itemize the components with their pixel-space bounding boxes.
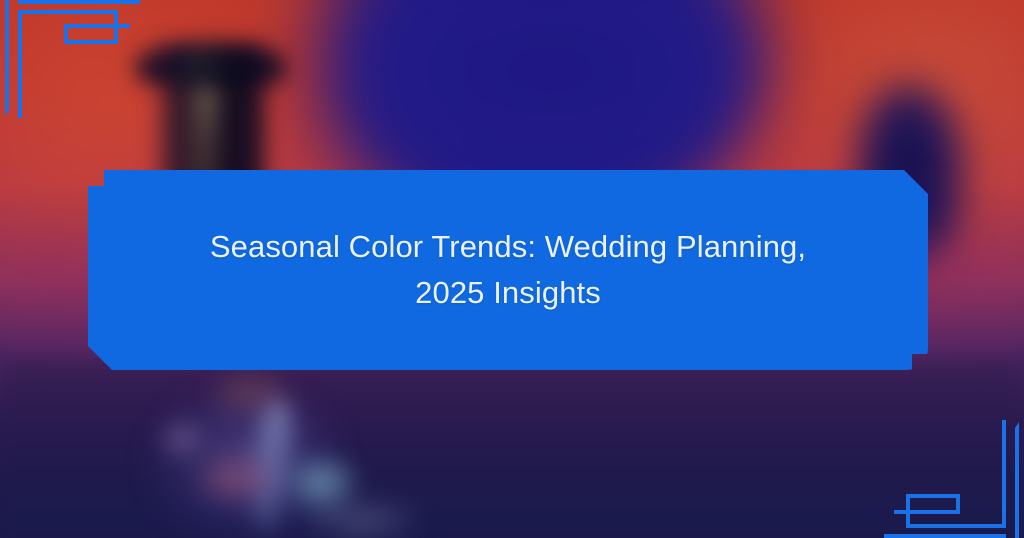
hero-banner-stage: Seasonal Color Trends: Wedding Planning,… bbox=[0, 0, 1024, 538]
corner-bracket-top-left-icon bbox=[0, 0, 140, 140]
background-bokeh-white bbox=[300, 500, 420, 538]
title-banner: Seasonal Color Trends: Wedding Planning,… bbox=[88, 170, 928, 370]
background-bokeh-pink bbox=[196, 452, 276, 504]
background-bokeh-lilac bbox=[158, 418, 206, 460]
page-title: Seasonal Color Trends: Wedding Planning,… bbox=[188, 224, 828, 316]
corner-bracket-bottom-right-icon bbox=[884, 398, 1024, 538]
